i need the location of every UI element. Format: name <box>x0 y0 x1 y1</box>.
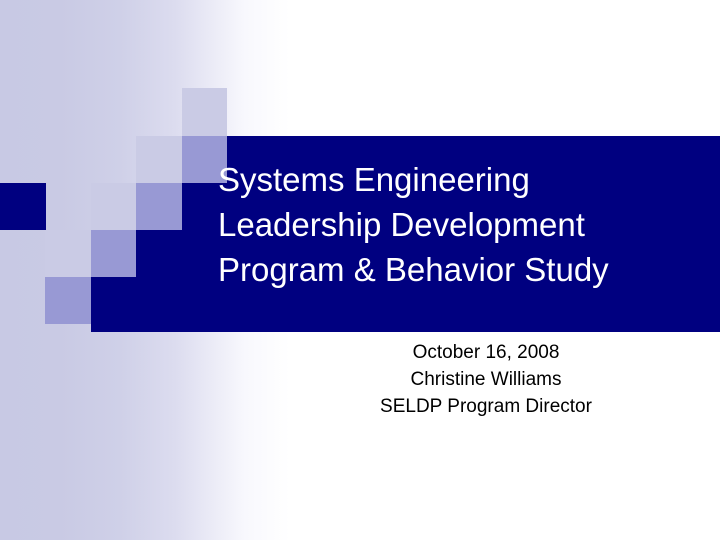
decorative-square-light-3 <box>91 183 136 230</box>
decorative-square-medium-4 <box>45 277 91 324</box>
subtitle-line-role: SELDP Program Director <box>252 393 720 420</box>
decorative-square-light-2 <box>136 136 182 183</box>
title-line-3: Program & Behavior Study <box>218 247 708 292</box>
decorative-navy-chip <box>0 183 46 230</box>
presentation-title-slide: Systems Engineering Leadership Developme… <box>0 0 720 540</box>
title-line-1: Systems Engineering <box>218 157 708 202</box>
decorative-square-light-1 <box>182 88 227 136</box>
subtitle-line-presenter: Christine Williams <box>252 366 720 393</box>
subtitle-line-date: October 16, 2008 <box>252 339 720 366</box>
title-line-2: Leadership Development <box>218 202 708 247</box>
decorative-square-light-4 <box>45 230 91 277</box>
page-title: Systems Engineering Leadership Developme… <box>218 157 708 292</box>
decorative-square-medium-2 <box>136 183 182 230</box>
subtitle: October 16, 2008 Christine Williams SELD… <box>252 339 720 420</box>
decorative-square-medium-3 <box>91 230 136 277</box>
